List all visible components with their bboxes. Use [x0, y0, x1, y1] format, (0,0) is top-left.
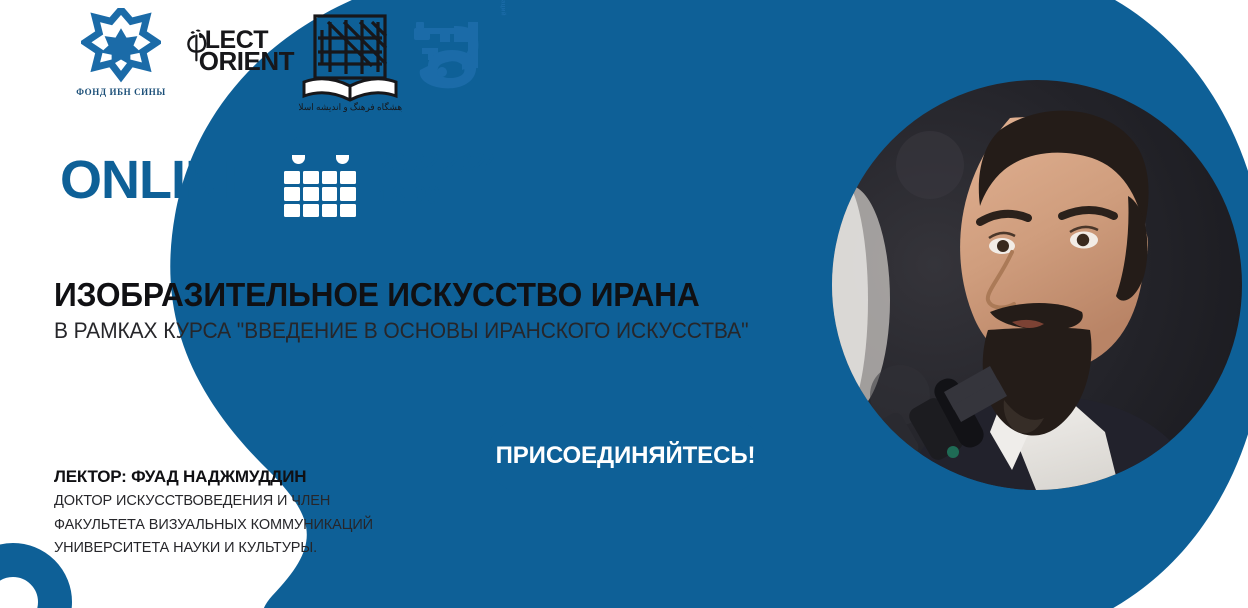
persian-calligraphy-icon	[408, 8, 486, 104]
online-label: ONLINE	[60, 153, 258, 207]
knot-book-icon: پژوهشگاه فرهنگ و اندیشه اسلامی	[298, 8, 402, 112]
event-format-row: ONLINE 28.02.2024 18:00	[60, 137, 499, 223]
lecturer-desc-line-3: УНИВЕРСИТЕТА НАУКИ И КУЛЬТУРЫ.	[54, 537, 414, 560]
logo-persian-institute: پژوهشگاه فرهنگ و اندیشه اسلامی	[296, 8, 404, 117]
page-title: ИЗОБРАЗИТЕЛЬНОЕ ИСКУССТВО ИРАНА	[54, 278, 726, 313]
logo-institute-civilizations: Институт цивилизаций	[408, 8, 504, 109]
join-button-label: ПРИСОЕДИНЯЙТЕСЬ!	[496, 442, 756, 470]
partner-logos: ФОНД ИБН СИНЫ LECT ORIENT	[62, 8, 504, 117]
logo-lect-orient: LECT ORIENT	[184, 22, 294, 73]
event-datetime: 28.02.2024 18:00	[378, 147, 499, 213]
lecturer-block: ЛЕКТОР: ФУАД НАДЖМУДДИН ДОКТОР ИСКУССТВО…	[54, 466, 414, 561]
lecturer-desc-line-1: ДОКТОР ИСКУССТВОВЕДЕНИЯ И ЧЛЕН	[54, 490, 414, 513]
event-poster: ФОНД ИБН СИНЫ LECT ORIENT	[0, 0, 1248, 608]
title-block: ИЗОБРАЗИТЕЛЬНОЕ ИСКУССТВО ИРАНА В РАМКАХ…	[54, 278, 754, 343]
svg-text:پژوهشگاه فرهنگ و اندیشه اسلامی: پژوهشگاه فرهنگ و اندیشه اسلامی	[298, 101, 402, 112]
calendar-icon	[274, 137, 366, 223]
event-time: 18:00	[378, 180, 499, 213]
event-date: 28.02.2024	[378, 147, 499, 180]
eight-pointed-star-icon	[81, 8, 161, 86]
portrait-photo	[806, 80, 1242, 500]
institute-vertical-caption: Институт цивилизаций	[500, 0, 506, 16]
logo-caption-ibn-sina: ФОНД ИБН СИНЫ	[62, 87, 180, 97]
lecturer-name: ЛЕКТОР: ФУАД НАДЖМУДДИН	[54, 466, 414, 488]
logo-ibn-sina-foundation: ФОНД ИБН СИНЫ	[62, 8, 180, 97]
lecturer-desc-line-2: ФАКУЛЬТЕТА ВИЗУАЛЬНЫХ КОММУНИКАЦИЙ	[54, 514, 414, 537]
join-button[interactable]: ПРИСОЕДИНЯЙТЕСЬ!	[487, 418, 764, 493]
orient-word: ORIENT	[199, 51, 294, 73]
microphone-icon	[871, 366, 1007, 466]
lecturer-description: ДОКТОР ИСКУССТВОВЕДЕНИЯ И ЧЛЕН ФАКУЛЬТЕТ…	[54, 490, 414, 560]
page-subtitle: В РАМКАХ КУРСА "ВВЕДЕНИЕ В ОСНОВЫ ИРАНСК…	[54, 319, 723, 343]
